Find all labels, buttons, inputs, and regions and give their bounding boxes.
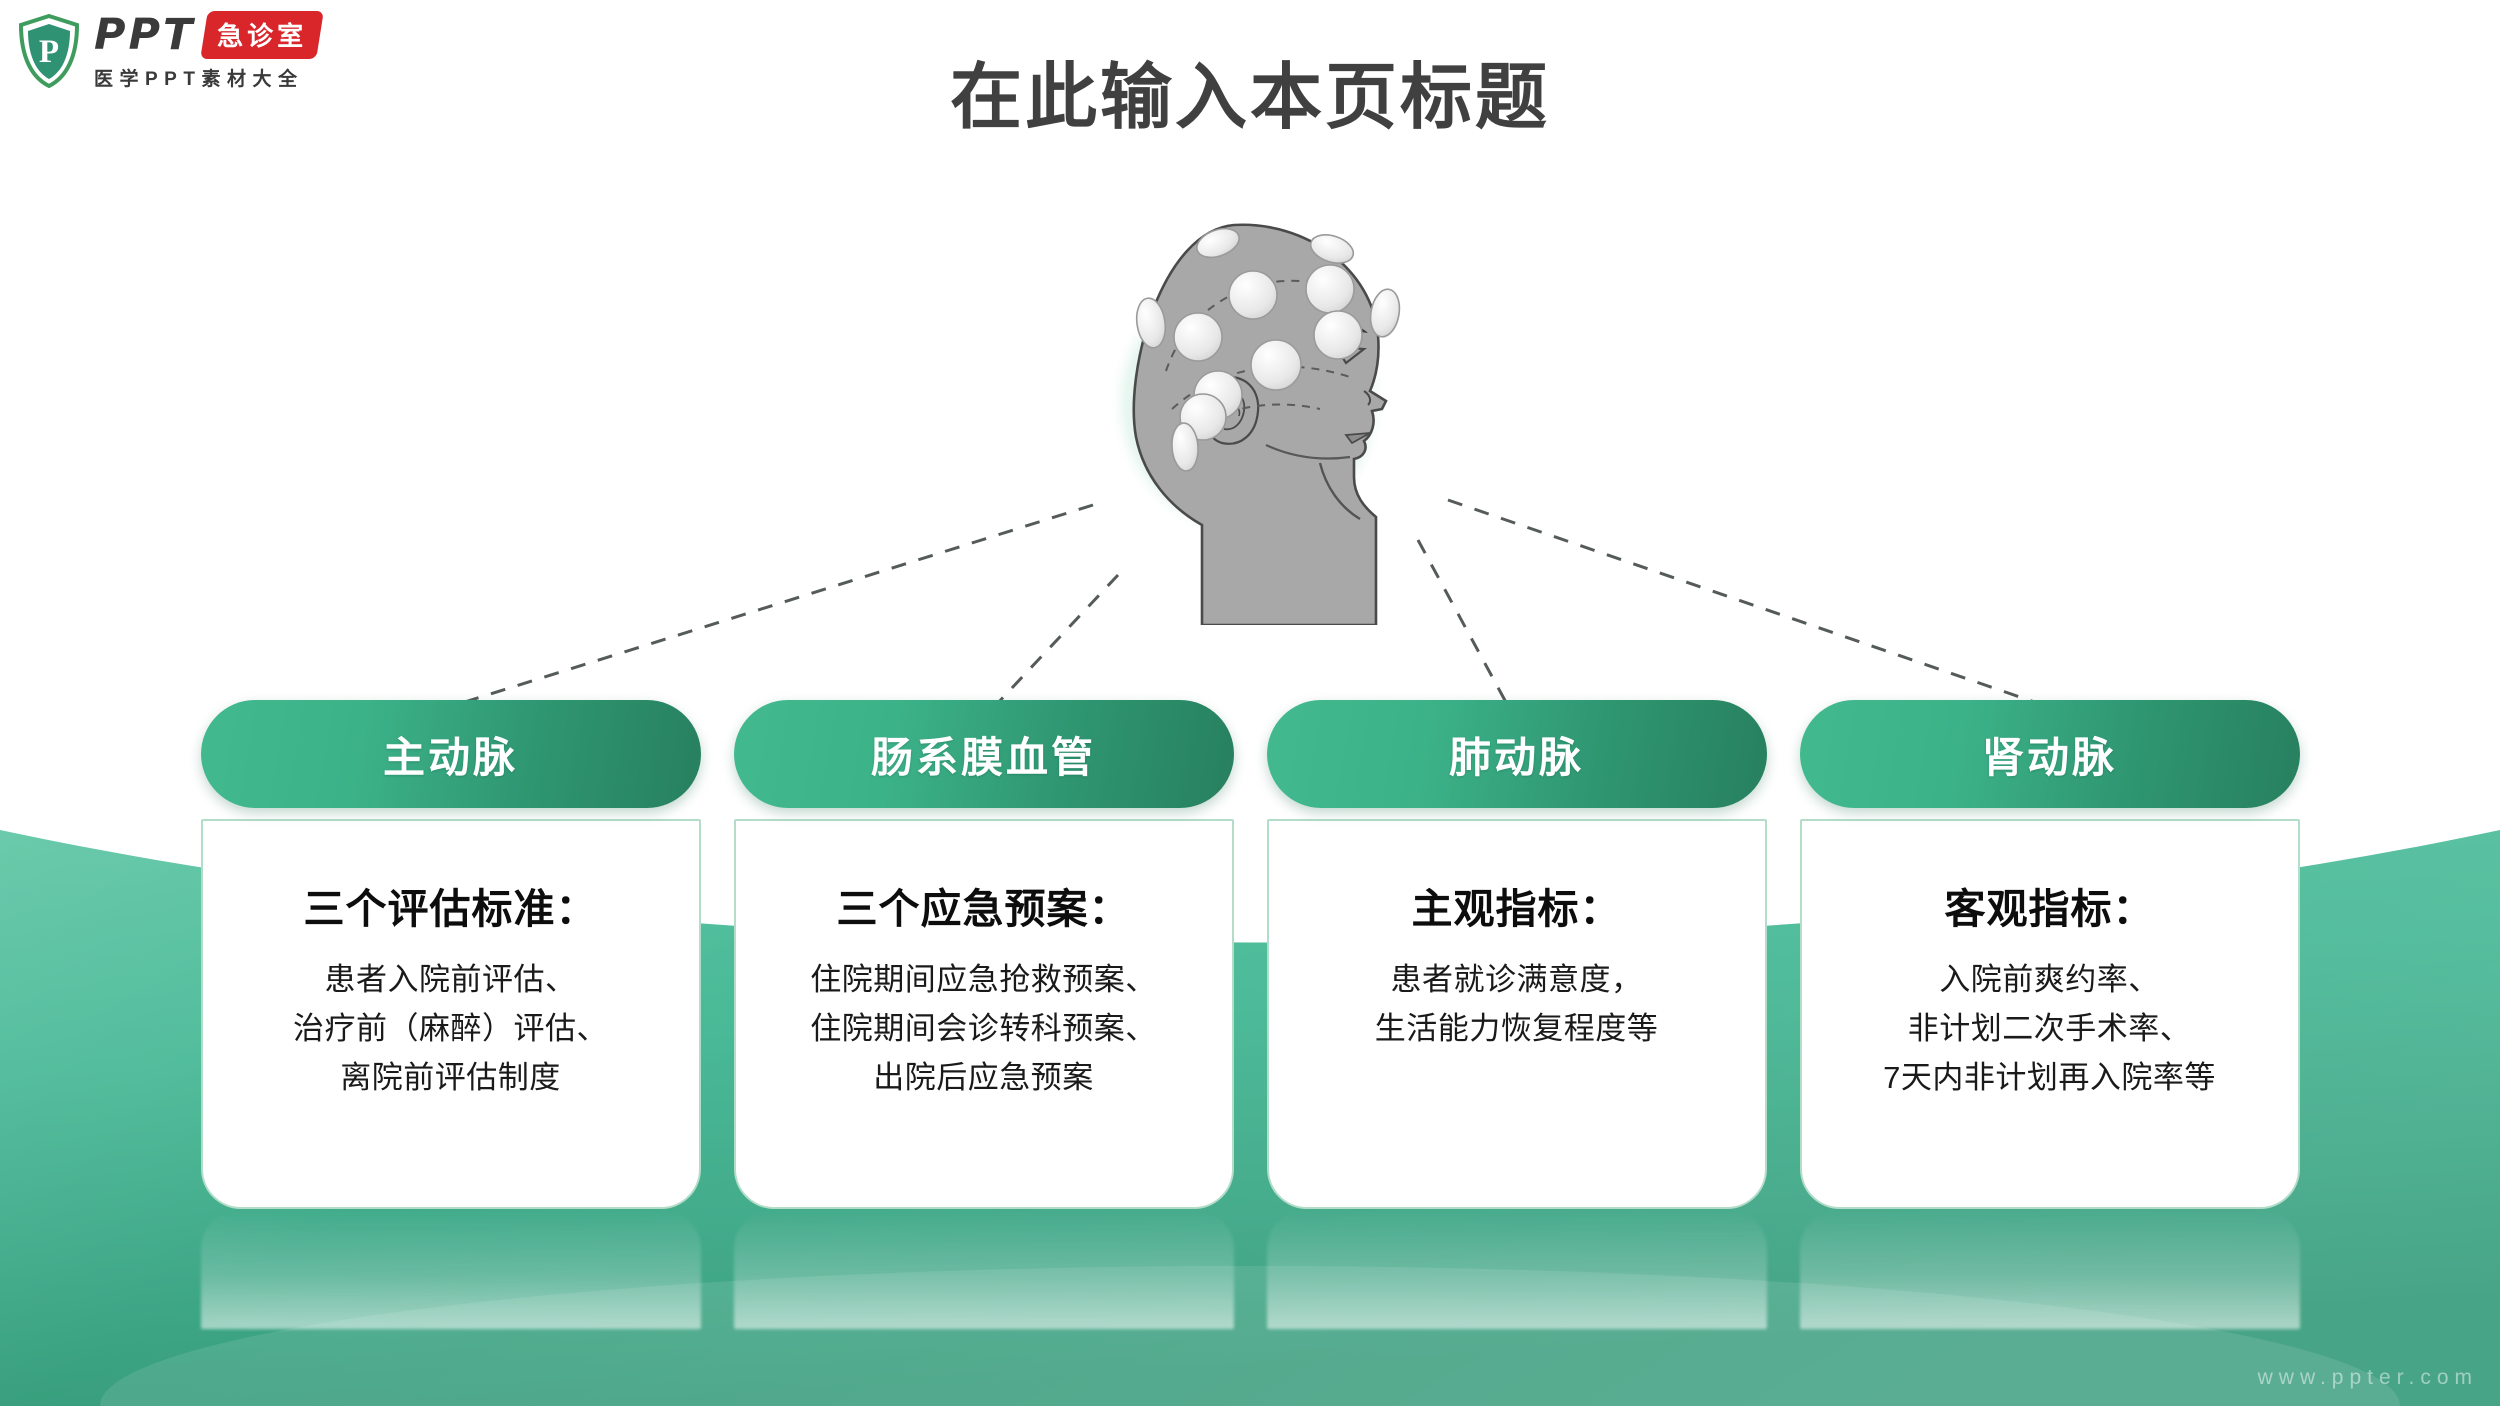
logo-badge-text: 急诊室 [217, 16, 307, 53]
card-line: 患者就诊满意度， [1293, 959, 1741, 1000]
column-3: 肺动脉 主观指标： 患者就诊满意度， 生活能力恢复程度等 [1267, 700, 1767, 1300]
column-4: 肾动脉 客观指标： 入院前爽约率、 非计划二次手术率、 7天内非计划再入院率等 [1800, 700, 2300, 1300]
card-lines-4: 入院前爽约率、 非计划二次手术率、 7天内非计划再入院率等 [1826, 959, 2274, 1099]
electrode [1251, 340, 1301, 390]
eeg-head-illustration [1020, 195, 1480, 625]
card-title-3: 主观指标： [1293, 875, 1741, 935]
shield-letter: P [39, 34, 59, 70]
pill-header-3[interactable]: 肺动脉 [1267, 700, 1767, 808]
connector-line-1 [452, 505, 1093, 706]
pill-label-2: 肠系膜血管 [871, 724, 1096, 785]
card-lines-2: 住院期间应急抢救预案、 住院期间会诊转科预案、 出院后应急预案 [760, 959, 1208, 1099]
card-line: 生活能力恢复程度等 [1293, 1008, 1741, 1049]
card-reflection-1 [201, 1209, 701, 1329]
card-title-1: 三个评估标准： [227, 875, 675, 935]
pill-label-4: 肾动脉 [1982, 724, 2117, 785]
pill-header-4[interactable]: 肾动脉 [1800, 700, 2300, 808]
brand-logo: P PPT 急诊室 医学PPT素材大全 [18, 10, 320, 91]
card-line: 非计划二次手术率、 [1826, 1008, 2274, 1049]
logo-tagline: 医学PPT素材大全 [94, 64, 320, 91]
info-card-2[interactable]: 三个应急预案： 住院期间应急抢救预案、 住院期间会诊转科预案、 出院后应急预案 [734, 819, 1234, 1209]
electrode [1229, 271, 1277, 319]
columns-container: 主动脉 三个评估标准： 患者入院前评估、 治疗前（麻醉）评估、 离院前评估制度 … [0, 700, 2500, 1300]
card-line: 患者入院前评估、 [227, 959, 675, 1000]
footer-watermark: www.ppter.com [2258, 1366, 2478, 1390]
connector-line-4 [1448, 500, 2046, 706]
pill-label-1: 主动脉 [383, 724, 518, 785]
card-line: 出院后应急预案 [760, 1057, 1208, 1098]
card-line: 离院前评估制度 [227, 1057, 675, 1098]
column-2: 肠系膜血管 三个应急预案： 住院期间应急抢救预案、 住院期间会诊转科预案、 出院… [734, 700, 1234, 1300]
card-title-2: 三个应急预案： [760, 875, 1208, 935]
pill-label-3: 肺动脉 [1449, 724, 1584, 785]
electrode [1174, 313, 1222, 361]
card-line: 7天内非计划再入院率等 [1826, 1057, 2274, 1098]
page-title: 在此输入本页标题 [0, 38, 2500, 143]
pill-header-2[interactable]: 肠系膜血管 [734, 700, 1234, 808]
card-lines-3: 患者就诊满意度， 生活能力恢复程度等 [1293, 959, 1741, 1049]
card-reflection-4 [1800, 1209, 2300, 1329]
card-line: 入院前爽约率、 [1826, 959, 2274, 1000]
info-card-1[interactable]: 三个评估标准： 患者入院前评估、 治疗前（麻醉）评估、 离院前评估制度 [201, 819, 701, 1209]
card-reflection-2 [734, 1209, 1234, 1329]
card-reflection-3 [1267, 1209, 1767, 1329]
shield-logo-icon: P [18, 14, 80, 88]
card-line: 治疗前（麻醉）评估、 [227, 1008, 675, 1049]
card-line: 住院期间会诊转科预案、 [760, 1008, 1208, 1049]
column-1: 主动脉 三个评估标准： 患者入院前评估、 治疗前（麻醉）评估、 离院前评估制度 [201, 700, 701, 1300]
pill-header-1[interactable]: 主动脉 [201, 700, 701, 808]
slide-canvas: P PPT 急诊室 医学PPT素材大全 在此输入本页标题 [0, 0, 2500, 1406]
electrode [1306, 265, 1354, 313]
card-title-4: 客观指标： [1826, 875, 2274, 935]
info-card-3[interactable]: 主观指标： 患者就诊满意度， 生活能力恢复程度等 [1267, 819, 1767, 1209]
logo-wordmark: PPT [94, 10, 195, 60]
card-lines-1: 患者入院前评估、 治疗前（麻醉）评估、 离院前评估制度 [227, 959, 675, 1099]
card-line: 住院期间应急抢救预案、 [760, 959, 1208, 1000]
electrode [1314, 311, 1362, 359]
logo-badge: 急诊室 [201, 11, 325, 59]
info-card-4[interactable]: 客观指标： 入院前爽约率、 非计划二次手术率、 7天内非计划再入院率等 [1800, 819, 2300, 1209]
